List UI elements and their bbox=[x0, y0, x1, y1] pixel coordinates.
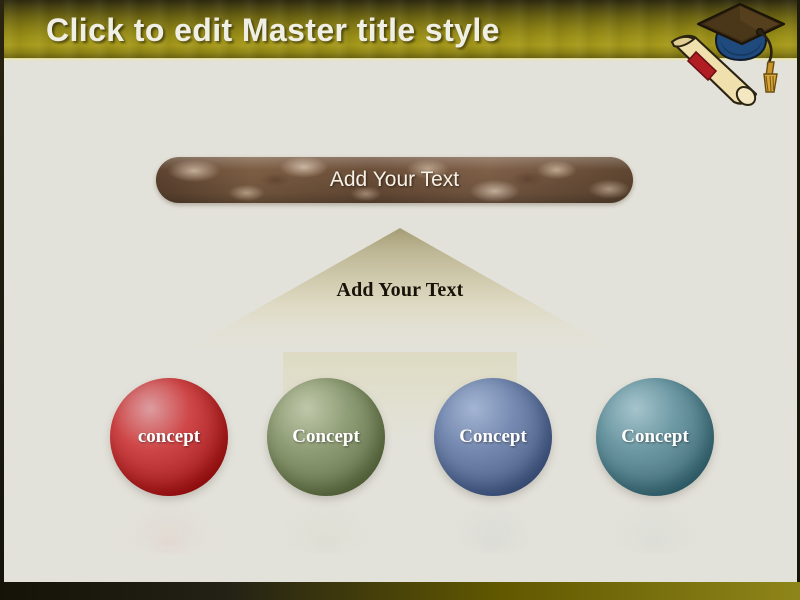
graduation-cap-icon bbox=[660, 0, 792, 110]
slide-footer-band bbox=[0, 582, 800, 600]
concept-sphere-4-label: Concept bbox=[596, 378, 714, 496]
banner-text[interactable]: Add Your Text bbox=[156, 157, 633, 203]
concept-sphere-3[interactable]: Concept bbox=[434, 378, 552, 496]
concept-sphere-1[interactable]: concept bbox=[110, 378, 228, 496]
concept-sphere-4[interactable]: Concept bbox=[596, 378, 714, 496]
concept-sphere-3-label: Concept bbox=[434, 378, 552, 496]
banner-shape[interactable]: Add Your Text bbox=[156, 157, 633, 203]
page-title[interactable]: Click to edit Master title style bbox=[46, 12, 500, 49]
sphere-reflection bbox=[270, 498, 382, 556]
left-border bbox=[0, 0, 4, 600]
up-arrow-shape[interactable] bbox=[188, 220, 612, 440]
powerpoint-slide: Click to edit Master title style bbox=[0, 0, 800, 600]
concept-sphere-1-label: concept bbox=[110, 378, 228, 496]
sphere-reflection bbox=[599, 498, 711, 556]
arrow-text[interactable]: Add Your Text bbox=[188, 279, 612, 302]
sphere-reflection bbox=[113, 498, 225, 556]
sphere-reflection bbox=[437, 498, 549, 556]
concept-sphere-2[interactable]: Concept bbox=[267, 378, 385, 496]
concept-sphere-2-label: Concept bbox=[267, 378, 385, 496]
